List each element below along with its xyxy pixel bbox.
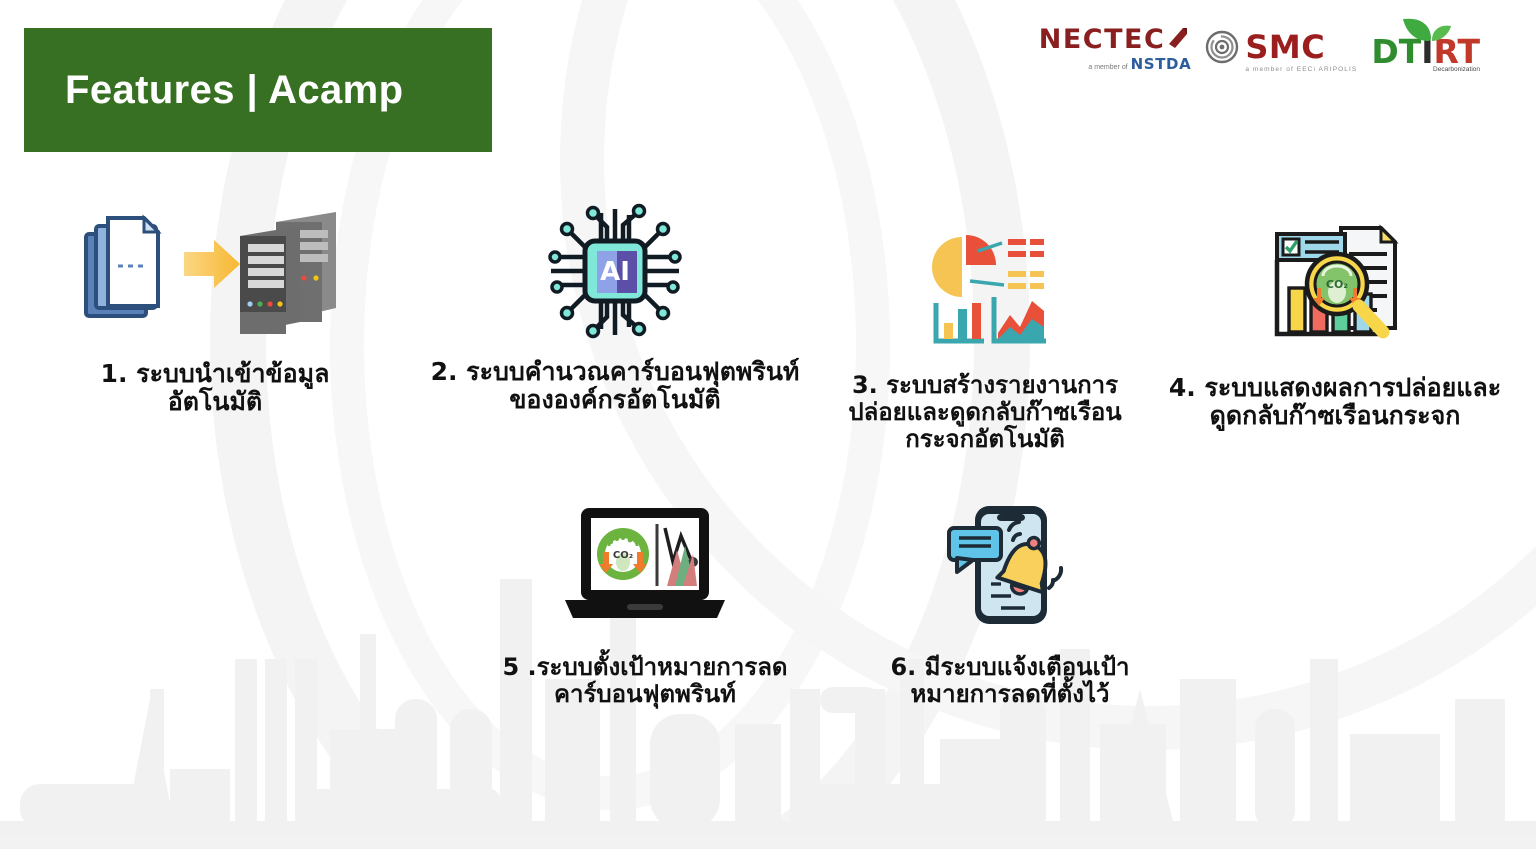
feature-item-2: AI 2. ระบบคำนวณคาร์บอนฟุตพรินท์ขององค์กร… bbox=[425, 196, 805, 415]
dashboard-magnifier-icon: CO₂ bbox=[1255, 212, 1415, 362]
feature-item-3: 3. ระบบสร้างรายงานการปล่อยและดูดกลับก๊าซ… bbox=[845, 210, 1125, 453]
co2-badge-label: CO₂ bbox=[1326, 278, 1348, 291]
svg-text:CO₂: CO₂ bbox=[613, 550, 633, 561]
documents-to-server-icon bbox=[80, 198, 350, 348]
feature-label-6: 6. มีระบบแจ้งเตือนเป้าหมายการลดที่ตั้งไว… bbox=[865, 654, 1155, 708]
ai-chip-icon: AI bbox=[545, 196, 685, 346]
feature-item-5: CO₂ 5 .ระบบตั้งเป้าหมายการลดคาร์บอนฟุตพร… bbox=[495, 492, 795, 708]
dtirt-leaf-icon bbox=[1399, 17, 1459, 43]
nectec-wordmark: NECTEC bbox=[1039, 26, 1166, 53]
feature-label-4: 4. ระบบแสดงผลการปล่อยและดูดกลับก๊าซเรือน… bbox=[1155, 374, 1515, 431]
page-title: Features | Acamp bbox=[65, 68, 403, 113]
phone-notification-bell-icon bbox=[935, 492, 1085, 642]
smc-wordmark: SMC bbox=[1245, 31, 1325, 63]
bottom-strip bbox=[0, 835, 1536, 849]
slide-canvas: Features | Acamp NECTEC a member of NSTD… bbox=[0, 0, 1536, 849]
smc-tagline: a member of EECi ARIPOLIS bbox=[1245, 66, 1357, 73]
feature-label-3: 3. ระบบสร้างรายงานการปล่อยและดูดกลับก๊าซ… bbox=[845, 372, 1125, 453]
dtirt-logo: DT I RT Decarbonization bbox=[1371, 35, 1480, 73]
feature-label-2: 2. ระบบคำนวณคาร์บอนฟุตพรินท์ขององค์กรอัต… bbox=[425, 358, 805, 415]
smc-wordmark-row: SMC bbox=[1205, 30, 1325, 64]
ai-chip-label: AI bbox=[600, 257, 630, 287]
feature-item-6: 6. มีระบบแจ้งเตือนเป้าหมายการลดที่ตั้งไว… bbox=[865, 492, 1155, 708]
feature-item-4: CO₂ 4. ระบบแสดงผลการปล่อยและดูดกลับก๊าซเ… bbox=[1155, 212, 1515, 431]
smc-logo: SMC a member of EECi ARIPOLIS bbox=[1205, 30, 1357, 73]
nectec-member-line: a member of NSTDA bbox=[1088, 55, 1191, 73]
dtirt-tagline: Decarbonization bbox=[1433, 66, 1480, 73]
feature-label-5: 5 .ระบบตั้งเป้าหมายการลดคาร์บอนฟุตพรินท์ bbox=[495, 654, 795, 708]
nstda-wordmark: NSTDA bbox=[1131, 55, 1192, 73]
nectec-wordmark-row: NECTEC bbox=[1039, 26, 1192, 53]
logo-bar: NECTEC a member of NSTDA SMC bbox=[1039, 26, 1480, 73]
nectec-arrow-icon bbox=[1165, 26, 1191, 52]
nectec-logo: NECTEC a member of NSTDA bbox=[1039, 26, 1192, 73]
smc-spiral-icon bbox=[1205, 30, 1239, 64]
feature-label-1: 1. ระบบนำเข้าข้อมูลอัตโนมัติ bbox=[55, 360, 375, 417]
laptop-co2-target-icon: CO₂ bbox=[555, 492, 735, 642]
report-charts-icon bbox=[920, 210, 1050, 360]
feature-item-1: 1. ระบบนำเข้าข้อมูลอัตโนมัติ bbox=[55, 198, 375, 417]
nectec-member-of-text: a member of bbox=[1088, 64, 1127, 71]
title-banner: Features | Acamp bbox=[24, 28, 492, 152]
